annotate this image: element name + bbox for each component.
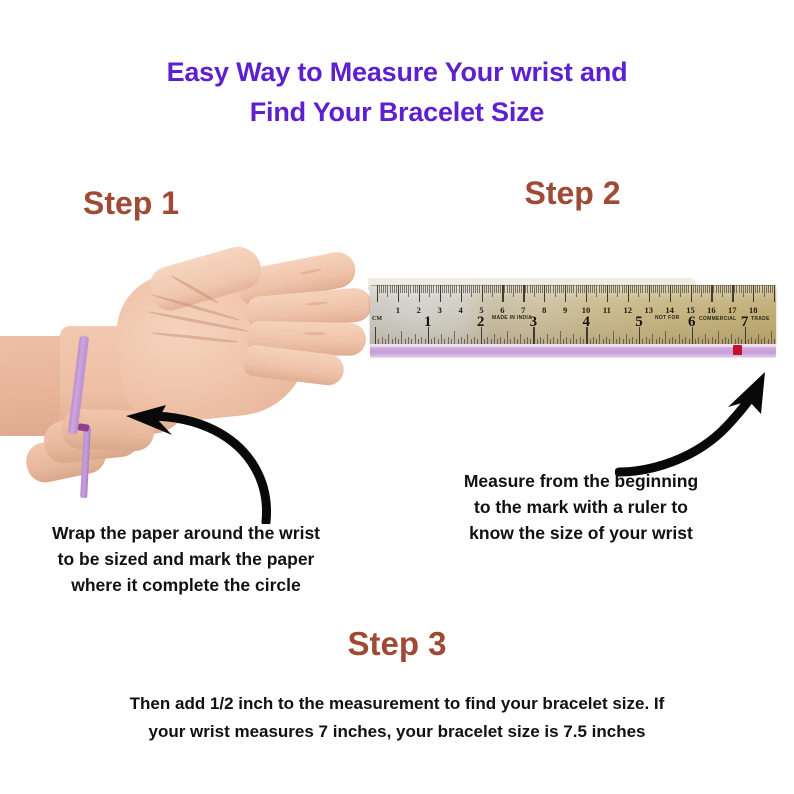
ruler-mm-tick bbox=[638, 285, 639, 297]
ruler-cm-tick bbox=[753, 285, 754, 302]
ruler-inch-tick bbox=[375, 327, 376, 345]
ruler-mm-tick bbox=[429, 285, 430, 297]
step-2-caption-line-2: to the mark with a ruler to bbox=[410, 494, 752, 520]
ruler-mm-tick bbox=[726, 285, 727, 293]
ruler-mm-tick bbox=[379, 285, 380, 293]
ruler-mm-tick bbox=[463, 285, 464, 293]
ruler-mm-tick bbox=[695, 285, 696, 293]
ruler-mm-tick bbox=[448, 285, 449, 293]
ruler-mm-tick bbox=[603, 285, 604, 293]
ruler-mm-tick bbox=[609, 285, 610, 293]
ruler-mm-tick bbox=[642, 285, 643, 293]
ruler-mm-tick bbox=[684, 285, 685, 293]
ruler-mm-tick bbox=[421, 285, 422, 293]
ruler-mm-tick bbox=[519, 285, 520, 293]
ruler-mm-tick bbox=[636, 285, 637, 293]
ruler-mm-tick bbox=[682, 285, 683, 293]
ruler-mm-tick bbox=[469, 285, 470, 293]
ruler-mm-tick bbox=[764, 285, 765, 297]
ruler-cm-label: 1 bbox=[396, 305, 400, 315]
step-1-caption: Wrap the paper around the wrist to be si… bbox=[6, 520, 366, 598]
ruler-inch-label: 5 bbox=[635, 314, 643, 331]
ruler-mm-tick bbox=[532, 285, 533, 293]
ruler-mm-tick bbox=[762, 285, 763, 293]
ruler-mm-tick bbox=[657, 285, 658, 293]
ruler-mm-tick bbox=[486, 285, 487, 293]
ruler-mm-tick bbox=[668, 285, 669, 293]
step-2-heading: Step 2 bbox=[455, 175, 690, 212]
ruler-mm-tick bbox=[392, 285, 393, 293]
ruler-origin-label: CM bbox=[372, 316, 382, 322]
ruler-mm-tick bbox=[571, 285, 572, 293]
ruler-mm-tick bbox=[686, 285, 687, 293]
ruler-mm-tick bbox=[701, 285, 702, 297]
ruler-mm-tick bbox=[406, 285, 407, 293]
ruler-mm-tick bbox=[456, 285, 457, 293]
ruler-cm-tick bbox=[502, 285, 503, 302]
step-3-heading: Step 3 bbox=[0, 625, 794, 663]
ruler-mm-tick bbox=[647, 285, 648, 293]
ruler-mm-tick bbox=[605, 285, 606, 293]
ruler-mm-tick bbox=[494, 285, 495, 293]
ruler-mm-tick bbox=[663, 285, 664, 293]
ruler-mm-tick bbox=[390, 285, 391, 293]
ruler-mm-tick bbox=[755, 285, 756, 293]
ruler-fraction-tick bbox=[718, 331, 719, 345]
ruler-fraction-tick bbox=[454, 331, 455, 345]
ruler-mm-tick bbox=[473, 285, 474, 293]
ruler-mm-tick bbox=[542, 285, 543, 293]
ruler-cm-tick bbox=[711, 285, 712, 302]
ruler-mm-tick bbox=[728, 285, 729, 293]
ruler-mm-tick bbox=[442, 285, 443, 293]
ruler-fraction-tick bbox=[665, 331, 666, 345]
ruler-mm-tick bbox=[454, 285, 455, 293]
step-1-curved-arrow-icon bbox=[118, 404, 278, 524]
ruler-inch-label: 7 bbox=[741, 314, 749, 331]
ruler-fraction-tick bbox=[507, 331, 508, 345]
ruler-mm-tick bbox=[475, 285, 476, 293]
ruler-mm-tick bbox=[676, 285, 677, 293]
ruler-mm-tick bbox=[527, 285, 528, 293]
ruler-mm-tick bbox=[619, 285, 620, 293]
ruler-mm-tick bbox=[665, 285, 666, 293]
ruler-mm-tick bbox=[770, 285, 771, 293]
ruler-mm-tick bbox=[465, 285, 466, 293]
ruler-mm-tick bbox=[743, 285, 744, 297]
ruler-mm-tick bbox=[413, 285, 414, 293]
ruler-mm-tick bbox=[511, 285, 512, 293]
ruler-mm-tick bbox=[513, 285, 514, 297]
ruler-mm-tick bbox=[749, 285, 750, 293]
ruler-mm-tick bbox=[645, 285, 646, 293]
ruler-mm-tick bbox=[588, 285, 589, 293]
ruler-mm-tick bbox=[661, 285, 662, 293]
ruler-mm-tick bbox=[772, 285, 773, 293]
step-3-caption-line-1: Then add 1/2 inch to the measurement to … bbox=[57, 690, 737, 718]
title-line-2: Find Your Bracelet Size bbox=[0, 92, 794, 132]
ruler-mm-tick bbox=[699, 285, 700, 293]
ruler-mm-tick bbox=[759, 285, 760, 293]
ruler-mm-tick bbox=[617, 285, 618, 297]
ruler-mm-tick bbox=[488, 285, 489, 293]
step-3-caption-line-2: your wrist measures 7 inches, your brace… bbox=[57, 718, 737, 746]
ruler-cm-tick bbox=[774, 285, 775, 302]
ruler-cm-label: 13 bbox=[644, 305, 653, 315]
ruler-mm-tick bbox=[504, 285, 505, 293]
ruler-mm-tick bbox=[433, 285, 434, 293]
steel-ruler-image: 123456789101112131415161718CM1234567MADE… bbox=[370, 285, 776, 345]
ruler-inch-label: 1 bbox=[424, 314, 432, 331]
ruler-mm-tick bbox=[747, 285, 748, 293]
ruler-mm-tick bbox=[640, 285, 641, 293]
ruler-mm-tick bbox=[490, 285, 491, 293]
ruler-mm-tick bbox=[736, 285, 737, 293]
ruler-cm-label: 9 bbox=[563, 305, 567, 315]
ruler-cm-tick bbox=[461, 285, 462, 302]
ruler-mm-tick bbox=[402, 285, 403, 293]
ruler-mm-tick bbox=[385, 285, 386, 293]
ruler-mm-tick bbox=[427, 285, 428, 293]
ruler-mm-tick bbox=[757, 285, 758, 293]
ruler-imprint-made-in: MADE IN INDIA bbox=[492, 315, 532, 321]
ruler-mm-tick bbox=[500, 285, 501, 293]
step-1-caption-line-2: to be sized and mark the paper bbox=[6, 546, 366, 572]
ruler-cm-label: 16 bbox=[707, 305, 716, 315]
ruler-cm-tick bbox=[544, 285, 545, 302]
ruler-mm-tick bbox=[452, 285, 453, 293]
ruler-mm-tick bbox=[720, 285, 721, 293]
ruler-mm-tick bbox=[446, 285, 447, 293]
ruler-mm-tick bbox=[766, 285, 767, 293]
ruler-mm-tick bbox=[404, 285, 405, 293]
ruler-cm-label: 6 bbox=[500, 305, 504, 315]
ruler-cm-tick bbox=[649, 285, 650, 302]
title-line-1: Easy Way to Measure Your wrist and bbox=[0, 52, 794, 92]
ruler-cm-label: 18 bbox=[749, 305, 758, 315]
ruler-mm-tick bbox=[534, 285, 535, 297]
ruler-mm-tick bbox=[567, 285, 568, 293]
ruler-mm-tick bbox=[396, 285, 397, 293]
ruler-mm-tick bbox=[540, 285, 541, 293]
ruler-mm-tick bbox=[680, 285, 681, 297]
ruler-mm-tick bbox=[561, 285, 562, 293]
ruler-mm-tick bbox=[739, 285, 740, 293]
ruler-mm-tick bbox=[688, 285, 689, 293]
step-2-caption-line-3: know the size of your wrist bbox=[410, 520, 752, 546]
ruler-mm-tick bbox=[410, 285, 411, 293]
ruler-cm-tick bbox=[607, 285, 608, 302]
ruler-mm-tick bbox=[709, 285, 710, 293]
ruler-cm-label: 17 bbox=[728, 305, 737, 315]
ruler-mm-tick bbox=[576, 285, 577, 297]
ruler-mm-tick bbox=[722, 285, 723, 297]
ruler-mm-tick bbox=[477, 285, 478, 293]
ruler-mm-tick bbox=[525, 285, 526, 293]
ruler-mm-tick bbox=[697, 285, 698, 293]
ruler-mm-tick bbox=[734, 285, 735, 293]
ruler-mm-tick bbox=[751, 285, 752, 293]
ruler-mm-tick bbox=[601, 285, 602, 293]
ruler-inch-label: 2 bbox=[477, 314, 485, 331]
ruler-mm-tick bbox=[613, 285, 614, 293]
ruler-fraction-tick bbox=[560, 331, 561, 345]
ruler-cm-label: 3 bbox=[438, 305, 442, 315]
ruler-mm-tick bbox=[678, 285, 679, 293]
ruler-mm-tick bbox=[496, 285, 497, 293]
ruler-imprint-not-for: NOT FOR bbox=[655, 315, 680, 321]
ruler-mm-tick bbox=[599, 285, 600, 293]
ruler-mm-tick bbox=[553, 285, 554, 293]
ruler-mm-tick bbox=[479, 285, 480, 293]
ruler-mm-tick bbox=[548, 285, 549, 293]
ruler-mm-tick bbox=[624, 285, 625, 293]
ruler-cm-label: 7 bbox=[521, 305, 525, 315]
step-1-caption-line-1: Wrap the paper around the wrist bbox=[6, 520, 366, 546]
ruler-fraction-tick bbox=[401, 331, 402, 345]
ruler-mm-tick bbox=[730, 285, 731, 293]
ruler-mm-tick bbox=[651, 285, 652, 293]
ruler-mm-tick bbox=[569, 285, 570, 293]
ruler-mm-tick bbox=[509, 285, 510, 293]
ruler-imprint-trade: TRADE bbox=[751, 316, 770, 322]
ruler-mm-tick bbox=[546, 285, 547, 293]
ruler-mm-tick bbox=[536, 285, 537, 293]
ruler-mm-tick bbox=[425, 285, 426, 293]
ruler-mm-tick bbox=[594, 285, 595, 293]
ruler-mm-tick bbox=[590, 285, 591, 293]
ruler-mm-tick bbox=[745, 285, 746, 293]
ruler-mm-tick bbox=[431, 285, 432, 293]
ruler-cm-label: 11 bbox=[603, 305, 611, 315]
ruler-mm-tick bbox=[381, 285, 382, 293]
ruler-mm-tick bbox=[724, 285, 725, 293]
ruler-mm-tick bbox=[584, 285, 585, 293]
ruler-mm-tick bbox=[459, 285, 460, 293]
ruler-mm-tick bbox=[705, 285, 706, 293]
ruler-mm-tick bbox=[626, 285, 627, 293]
step-2-caption-line-1: Measure from the beginning bbox=[410, 468, 752, 494]
ruler-mm-tick bbox=[559, 285, 560, 293]
ruler-mm-tick bbox=[630, 285, 631, 293]
ruler-mm-tick bbox=[703, 285, 704, 293]
ruler-mm-tick bbox=[557, 285, 558, 293]
ruler-cm-tick bbox=[565, 285, 566, 302]
ruler-mm-tick bbox=[394, 285, 395, 293]
ruler-mm-tick bbox=[400, 285, 401, 293]
step-2-caption: Measure from the beginning to the mark w… bbox=[410, 468, 752, 546]
ruler-mm-tick bbox=[672, 285, 673, 293]
paper-strip-mark bbox=[78, 423, 90, 431]
ruler-mm-tick bbox=[674, 285, 675, 293]
step-2-curved-arrow-icon bbox=[615, 368, 790, 483]
ruler-mm-tick bbox=[707, 285, 708, 293]
ruler-mm-tick bbox=[517, 285, 518, 293]
ruler-mm-tick bbox=[471, 285, 472, 297]
ruler-mm-tick bbox=[632, 285, 633, 293]
ruler-mm-tick bbox=[550, 285, 551, 293]
ruler-inch-label: 4 bbox=[582, 314, 590, 331]
ruler-mm-tick bbox=[563, 285, 564, 293]
ruler-mm-tick bbox=[582, 285, 583, 293]
ruler-mm-tick bbox=[592, 285, 593, 293]
ruler-mm-tick bbox=[417, 285, 418, 293]
ruler-imprint-commercial: COMMERCIAL bbox=[699, 316, 736, 322]
page-title: Easy Way to Measure Your wrist and Find … bbox=[0, 52, 794, 132]
ruler-mm-tick bbox=[555, 285, 556, 297]
ruler-cm-label: 4 bbox=[458, 305, 462, 315]
ruler-mm-tick bbox=[716, 285, 717, 293]
ruler-mm-tick bbox=[693, 285, 694, 293]
infographic-canvas: Easy Way to Measure Your wrist and Find … bbox=[0, 0, 794, 794]
ruler-mm-tick bbox=[596, 285, 597, 297]
ruler-mm-tick bbox=[438, 285, 439, 293]
ruler-mm-tick bbox=[538, 285, 539, 293]
ruler-mm-tick bbox=[383, 285, 384, 293]
ruler-mm-tick bbox=[655, 285, 656, 293]
ruler-mm-tick bbox=[444, 285, 445, 293]
ruler-cm-label: 12 bbox=[624, 305, 633, 315]
ruler-mm-tick bbox=[467, 285, 468, 293]
ruler-mm-tick bbox=[498, 285, 499, 293]
step-3-caption: Then add 1/2 inch to the measurement to … bbox=[57, 690, 737, 746]
ruler-mm-tick bbox=[713, 285, 714, 293]
ruler-mm-tick bbox=[450, 285, 451, 297]
ruler-fraction-tick bbox=[771, 331, 772, 345]
ruler-mm-tick bbox=[768, 285, 769, 293]
ruler-inch-label: 6 bbox=[688, 314, 696, 331]
ruler-mm-tick bbox=[408, 285, 409, 297]
ruler-mm-tick bbox=[578, 285, 579, 293]
ruler-cm-label: 2 bbox=[417, 305, 421, 315]
ruler-mm-tick bbox=[659, 285, 660, 297]
ruler-mm-tick bbox=[507, 285, 508, 293]
ruler-mm-tick bbox=[515, 285, 516, 293]
ruler-mm-tick bbox=[484, 285, 485, 293]
paper-strip-under-ruler bbox=[370, 344, 776, 357]
ruler-mm-tick bbox=[653, 285, 654, 293]
ruler-mm-tick bbox=[634, 285, 635, 293]
ruler-mm-tick bbox=[387, 285, 388, 297]
ruler-mm-tick bbox=[611, 285, 612, 293]
step-1-heading: Step 1 bbox=[0, 185, 262, 222]
ruler-mm-tick bbox=[521, 285, 522, 293]
ruler-fraction-tick bbox=[613, 331, 614, 345]
ruler-mm-tick bbox=[423, 285, 424, 293]
ruler-cm-tick bbox=[398, 285, 399, 302]
red-measurement-mark bbox=[733, 345, 742, 355]
ruler-mm-tick bbox=[718, 285, 719, 293]
ruler-mm-tick bbox=[415, 285, 416, 293]
ruler-mm-tick bbox=[622, 285, 623, 293]
ruler-mm-tick bbox=[580, 285, 581, 293]
ruler-cm-label: 8 bbox=[542, 305, 546, 315]
step-1-caption-line-3: where it complete the circle bbox=[6, 572, 366, 598]
ruler-mm-tick bbox=[573, 285, 574, 293]
ruler-mm-tick bbox=[615, 285, 616, 293]
ruler-mm-tick bbox=[436, 285, 437, 293]
ruler-mm-tick bbox=[492, 285, 493, 297]
ruler-mm-tick bbox=[530, 285, 531, 293]
ruler-cm-label: 14 bbox=[665, 305, 674, 315]
ruler-cm-tick bbox=[670, 285, 671, 302]
ruler-cm-tick bbox=[440, 285, 441, 302]
ruler-mm-tick bbox=[741, 285, 742, 293]
